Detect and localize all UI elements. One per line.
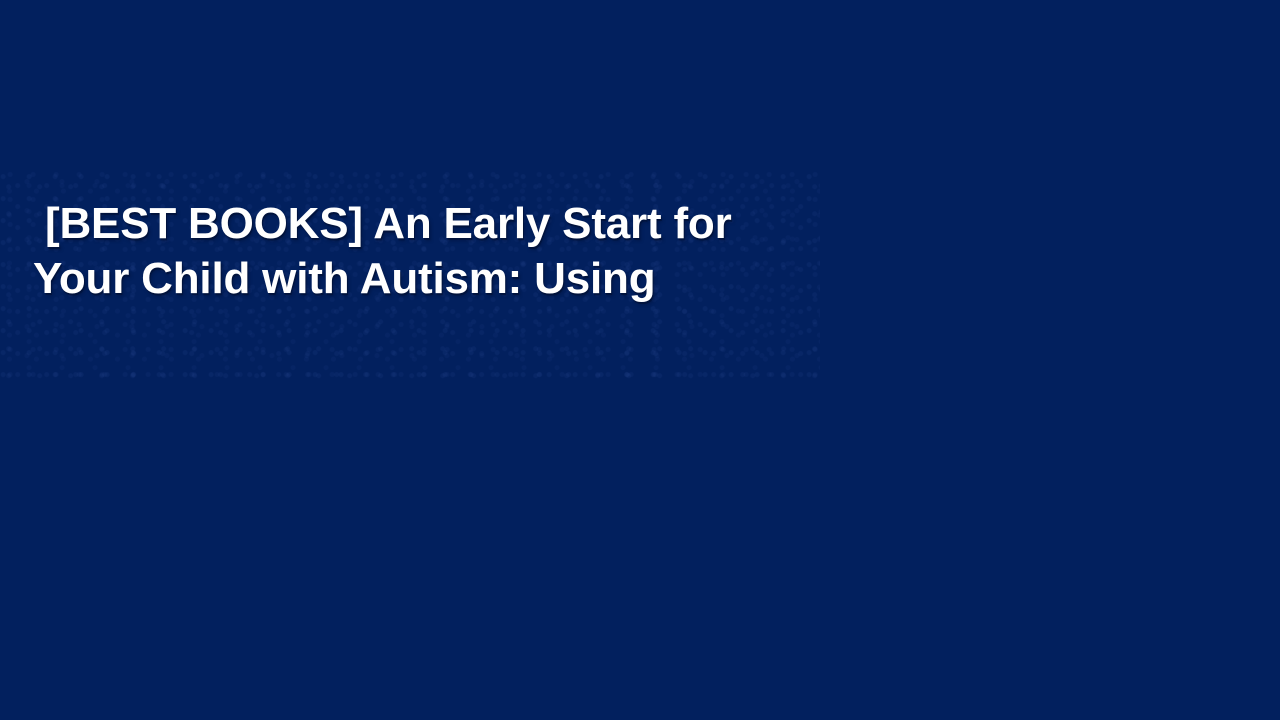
headline-title-text: [BEST BOOKS] An Early Start for Your Chi… xyxy=(33,196,773,306)
video-thumbnail-frame: [BEST BOOKS] An Early Start for Your Chi… xyxy=(0,0,1280,720)
